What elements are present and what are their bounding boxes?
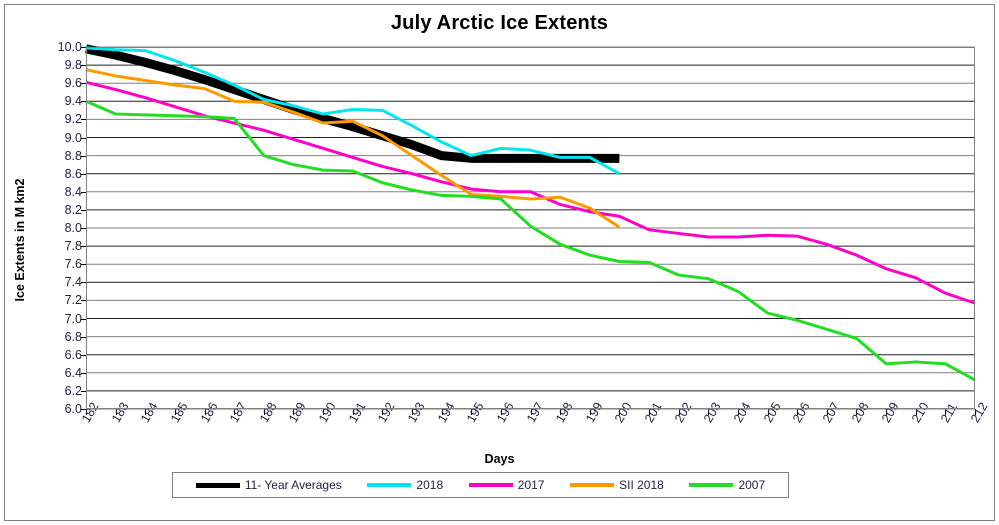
y-axis-tick-mark (81, 246, 86, 247)
legend-label: 2007 (738, 478, 765, 492)
y-axis-tick-mark (81, 391, 86, 392)
y-axis-tick-mark (81, 210, 86, 211)
legend-label: 11- Year Averages (245, 478, 342, 492)
y-axis-tick-mark (81, 319, 86, 320)
legend-item: 11- Year Averages (196, 478, 342, 492)
legend-label: 2017 (518, 478, 545, 492)
y-axis-tick-mark (81, 156, 86, 157)
y-axis-tick-mark (81, 101, 86, 102)
series-line (86, 101, 975, 380)
chart-container: July Arctic Ice Extents Ice Extents in M… (0, 0, 999, 525)
x-axis-title: Days (0, 452, 999, 466)
y-axis-tick-mark (81, 119, 86, 120)
legend-label: 2018 (416, 478, 443, 492)
y-axis-tick-mark (81, 282, 86, 283)
series-line (86, 70, 619, 227)
legend-label: SII 2018 (619, 478, 664, 492)
legend-swatch (570, 483, 614, 487)
y-axis-tick-mark (81, 264, 86, 265)
y-axis-tick-mark (81, 355, 86, 356)
y-axis-tick-mark (81, 65, 86, 66)
chart-legend: 11- Year Averages20182017SII 20182007 (172, 472, 789, 498)
legend-item: 2018 (367, 478, 443, 492)
legend-item: SII 2018 (570, 478, 664, 492)
legend-swatch (196, 483, 240, 488)
y-axis-tick-mark (81, 409, 86, 410)
y-axis-tick-mark (81, 83, 86, 84)
y-axis-tick-mark (81, 192, 86, 193)
legend-item: 2017 (469, 478, 545, 492)
legend-swatch (367, 483, 411, 487)
y-axis-tick-mark (81, 174, 86, 175)
y-axis-tick-mark (81, 47, 86, 48)
legend-item: 2007 (689, 478, 765, 492)
y-axis-tick-mark (81, 300, 86, 301)
legend-swatch (469, 483, 513, 487)
y-axis-tick-mark (81, 337, 86, 338)
y-axis-tick-mark (81, 138, 86, 139)
legend-swatch (689, 483, 733, 487)
series-line (86, 82, 975, 303)
y-axis-tick-mark (81, 373, 86, 374)
y-axis-tick-mark (81, 228, 86, 229)
plot-lines (0, 0, 999, 525)
